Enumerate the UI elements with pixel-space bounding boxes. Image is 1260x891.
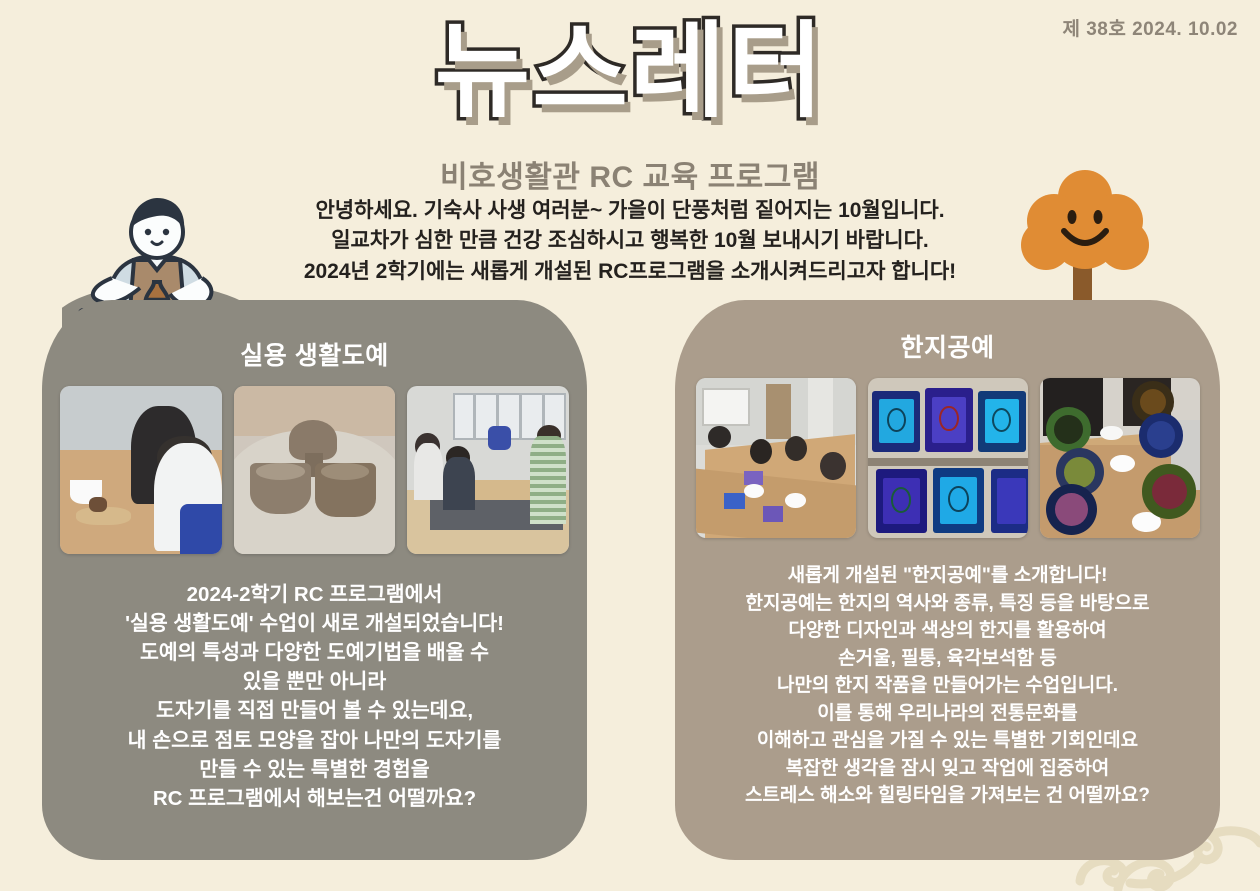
card-pottery-title: 실용 생활도예 [42, 336, 587, 372]
card-hanji: 한지공예 [675, 300, 1220, 860]
photo-hanji-fans [1040, 378, 1200, 538]
newsletter-page: 제 38호 2024. 10.02 뉴스레터 비호생활관 RC 교육 프로그램 … [0, 0, 1260, 891]
card-pottery-photos [42, 386, 587, 554]
body-line: RC 프로그램에서 해보는건 어떨까요? [56, 784, 573, 813]
photo-hanji-classroom [696, 378, 856, 538]
body-line: 도자기를 직접 만들어 볼 수 있는데요, [56, 696, 573, 725]
photo-clay-bowls [234, 386, 396, 554]
body-line: 이해하고 관심을 가질 수 있는 특별한 기회인데요 [689, 727, 1206, 755]
body-line: 2024-2학기 RC 프로그램에서 [56, 580, 573, 609]
card-hanji-photos [675, 378, 1220, 538]
card-hanji-body: 새롭게 개설된 "한지공예"를 소개합니다! 한지공예는 한지의 역사와 종류,… [675, 562, 1220, 810]
body-line: 있을 뿐만 아니라 [56, 667, 573, 696]
body-line: 내 손으로 점토 모양을 잡아 나만의 도자기를 [56, 726, 573, 755]
body-line: 도예의 특성과 다양한 도예기법을 배울 수 [56, 638, 573, 667]
body-line: 이를 통해 우리나라의 전통문화를 [689, 700, 1206, 728]
photo-pottery-classroom [407, 386, 569, 554]
page-title: 뉴스레터 [0, 18, 1260, 127]
body-line: 다양한 디자인과 색상의 한지를 활용하여 [689, 617, 1206, 645]
body-line: 만들 수 있는 특별한 경험을 [56, 755, 573, 784]
body-line: 손거울, 필통, 육각보석함 등 [689, 645, 1206, 673]
body-line: 복잡한 생각을 잠시 잊고 작업에 집중하여 [689, 755, 1206, 783]
photo-hanji-squares [868, 378, 1028, 538]
photo-pottery-students [60, 386, 222, 554]
body-line: 나만의 한지 작품을 만들어가는 수업입니다. [689, 672, 1206, 700]
body-line: 스트레스 해소와 힐링타임을 가져보는 건 어떨까요? [689, 782, 1206, 810]
card-pottery: 실용 생활도예 [42, 300, 587, 860]
body-line: 한지공예는 한지의 역사와 종류, 특징 등을 바탕으로 [689, 590, 1206, 618]
card-hanji-title: 한지공예 [675, 328, 1220, 364]
body-line: 새롭게 개설된 "한지공예"를 소개합니다! [689, 562, 1206, 590]
body-line: '실용 생활도예' 수업이 새로 개설되었습니다! [56, 609, 573, 638]
card-pottery-body: 2024-2학기 RC 프로그램에서 '실용 생활도예' 수업이 새로 개설되었… [42, 580, 587, 813]
